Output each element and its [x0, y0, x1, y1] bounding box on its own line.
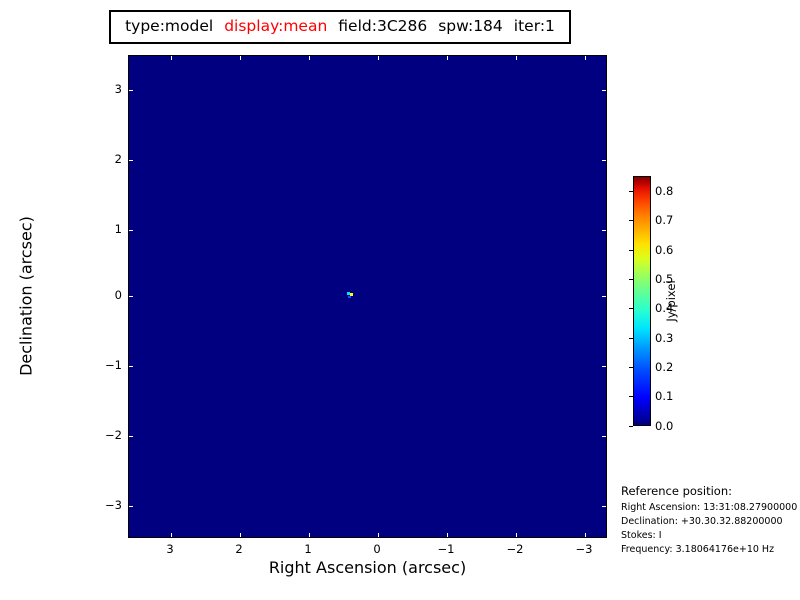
ytick-right-m1	[602, 366, 606, 367]
title-item-field: field:3C286	[338, 19, 427, 35]
yticklabel-m3: −3	[122, 498, 139, 512]
colorbar-ticklabel-3: 0.3	[655, 331, 673, 345]
reference-position-heading: Reference position:	[621, 484, 799, 498]
image-plot-area[interactable]	[128, 55, 607, 538]
xticklabel-0: 3	[166, 542, 173, 556]
colorbar-ticklabel-0: 0.0	[655, 419, 673, 433]
colorbar-gradient	[633, 176, 651, 426]
ytick-right-0	[602, 296, 606, 297]
reference-position-declination: Declination: +30.30.32.88200000	[621, 516, 799, 527]
xtick-bottom-2	[240, 533, 241, 537]
y-axis-label: Declination (arcsec)	[17, 146, 36, 446]
xticklabel-5: −2	[507, 542, 524, 556]
xtick-bottom-m2	[516, 533, 517, 537]
xtick-top-3	[171, 56, 172, 60]
yticklabel-3: 3	[122, 82, 129, 96]
ytick-right-2	[602, 160, 606, 161]
ytick-left-2	[129, 160, 133, 161]
ytick-left-3	[129, 90, 133, 91]
colorbar-ticklabel-6: 0.6	[655, 243, 673, 257]
colorbar[interactable]: 0.0 0.1 0.2 0.3 0.4 0.5 0.6 0.7 0.8	[633, 176, 651, 426]
yticklabel-m2: −2	[122, 428, 139, 442]
colorbar-tick-3	[629, 338, 633, 339]
colorbar-tick-1	[629, 396, 633, 397]
title-item-display: display:mean	[224, 19, 327, 35]
title-item-type: type:model	[125, 19, 213, 35]
reference-position-frequency: Frequency: 3.18064176e+10 Hz	[621, 544, 799, 555]
colorbar-tick-0	[629, 426, 633, 427]
title-item-iter: iter:1	[514, 19, 555, 35]
reference-position-block: Reference position: Right Ascension: 13:…	[621, 484, 799, 558]
colorbar-tick-5	[629, 279, 633, 280]
xtick-top-2	[240, 56, 241, 60]
point-source-pixel-cyan	[347, 292, 350, 295]
ytick-right-m2	[602, 436, 606, 437]
ytick-left-0	[129, 296, 133, 297]
colorbar-tick-6	[629, 250, 633, 251]
colorbar-ticklabel-2: 0.2	[655, 360, 673, 374]
xticklabel-4: −1	[438, 542, 455, 556]
point-source-pixel-blue	[348, 296, 351, 298]
sky-image-raster	[129, 56, 606, 537]
colorbar-ticklabel-1: 0.1	[655, 389, 673, 403]
colorbar-ticklabel-7: 0.7	[655, 213, 673, 227]
xticklabel-2: 1	[304, 542, 311, 556]
colorbar-ticklabel-8: 0.8	[655, 184, 673, 198]
xtick-top-m2	[516, 56, 517, 60]
xtick-top-m1	[447, 56, 448, 60]
x-axis-label: Right Ascension (arcsec)	[128, 558, 607, 577]
xtick-bottom-1	[309, 533, 310, 537]
xtick-top-m3	[585, 56, 586, 60]
colorbar-tick-4	[629, 308, 633, 309]
plot-title-box: type:model display:mean field:3C286 spw:…	[109, 10, 571, 44]
yticklabel-0: 0	[122, 288, 129, 302]
yticklabel-1: 1	[122, 222, 129, 236]
ytick-left-1	[129, 230, 133, 231]
xtick-top-0	[378, 56, 379, 60]
colorbar-unit-label: Jy/pixel	[664, 280, 678, 321]
title-item-spw: spw:184	[438, 19, 503, 35]
reference-position-right-ascension: Right Ascension: 13:31:08.27900000	[621, 502, 799, 513]
xticklabel-1: 2	[235, 542, 242, 556]
ytick-right-3	[602, 90, 606, 91]
ytick-right-1	[602, 230, 606, 231]
yticklabel-m1: −1	[122, 358, 139, 372]
xtick-top-1	[309, 56, 310, 60]
colorbar-tick-7	[629, 220, 633, 221]
xtick-bottom-m1	[447, 533, 448, 537]
colorbar-tick-2	[629, 367, 633, 368]
xtick-bottom-m3	[585, 533, 586, 537]
colorbar-tick-8	[629, 191, 633, 192]
xtick-bottom-0	[378, 533, 379, 537]
xticklabel-6: −3	[576, 542, 593, 556]
xtick-bottom-3	[171, 533, 172, 537]
ytick-right-m3	[602, 506, 606, 507]
yticklabel-2: 2	[122, 152, 129, 166]
xticklabel-3: 0	[373, 542, 380, 556]
reference-position-stokes: Stokes: I	[621, 530, 799, 541]
